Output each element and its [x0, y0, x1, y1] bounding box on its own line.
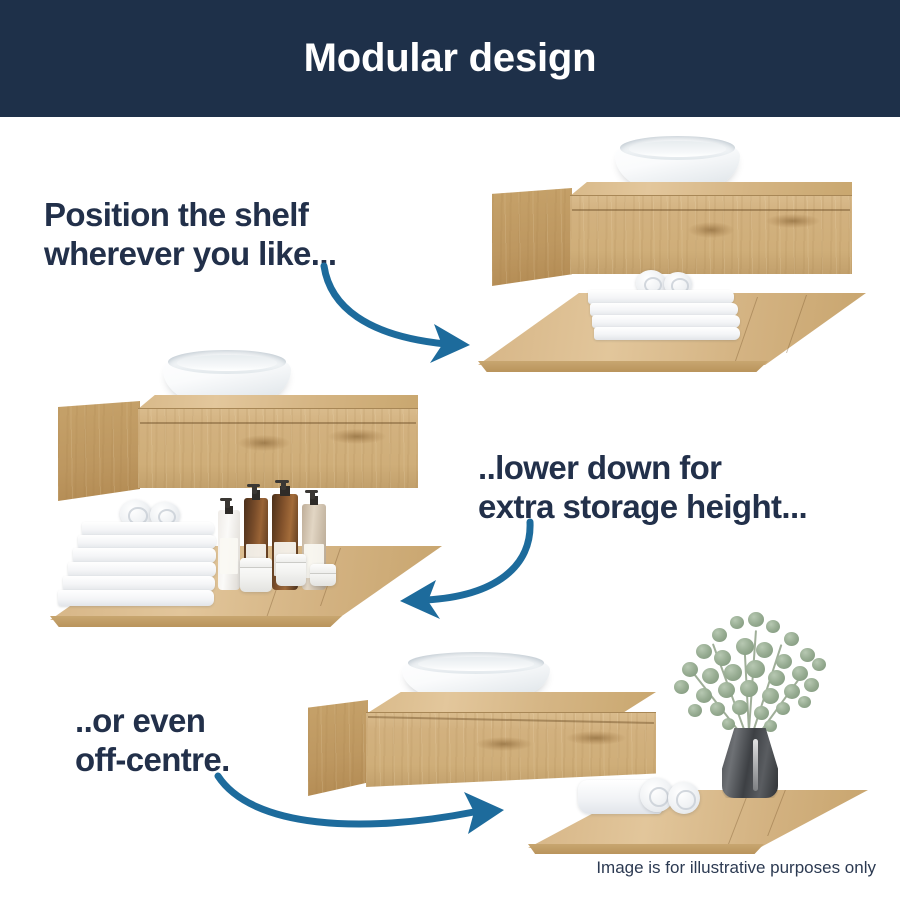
bottle-label: [220, 538, 238, 574]
plant-leaf: [812, 658, 826, 671]
plant-leaf: [776, 702, 790, 715]
vase-highlight: [753, 739, 758, 791]
plant-leaf: [746, 660, 765, 678]
plant-leaf: [712, 628, 727, 642]
callout-off-centre: ..or even off-centre.: [75, 702, 230, 780]
folded-towel: [594, 327, 740, 340]
jar-lid: [310, 564, 336, 574]
vanity-side-face: [58, 401, 140, 501]
folded-towel: [68, 562, 216, 577]
eucalyptus-arrangement: [652, 610, 852, 820]
plant-leaf: [798, 696, 811, 708]
eucalyptus-plant: [652, 610, 852, 740]
plant-leaf: [762, 688, 779, 704]
plant-leaf: [754, 706, 769, 720]
bottle-spout: [305, 490, 318, 493]
header-banner: Modular design: [0, 0, 900, 117]
callout-lower-down: ..lower down for extra storage height...: [478, 449, 807, 527]
shelf-front-edge: [478, 361, 768, 372]
plant-leaf: [740, 680, 758, 697]
scene-vanity-shelf-offcentre: [300, 600, 870, 860]
plant-leaf: [696, 644, 712, 659]
wood-knot: [766, 214, 820, 228]
vanity-top-face: [366, 692, 656, 714]
wood-knot: [328, 429, 386, 444]
scene-vanity-shelf-high: [470, 130, 880, 400]
vanity-top-face: [138, 395, 418, 409]
basin-inner: [418, 657, 533, 671]
scene-vanity-shelf-low: [50, 340, 450, 640]
plant-leaf: [766, 620, 780, 633]
shelf-front-edge: [528, 844, 764, 854]
callout-position-the-shelf: Position the shelf wherever you like...: [44, 196, 336, 274]
plant-leaf: [784, 684, 800, 699]
wood-knot: [476, 737, 532, 751]
plant-leaf: [804, 678, 819, 692]
plant-leaf: [702, 668, 719, 684]
vanity-front-face: [570, 195, 852, 274]
vanity-front-face: [138, 408, 418, 488]
plant-leaf: [748, 612, 764, 627]
bottle-spout: [247, 484, 260, 487]
basin-inner: [177, 355, 277, 371]
folded-towel-stack: [58, 500, 228, 610]
folded-towel: [58, 590, 214, 606]
plant-leaf: [768, 670, 785, 686]
plant-leaf: [674, 680, 689, 694]
plant-leaf: [756, 642, 773, 658]
shelf-front-edge: [50, 616, 342, 627]
plant-leaf: [736, 638, 754, 655]
drawer-gap-line: [140, 422, 416, 424]
plant-leaf: [718, 682, 735, 698]
plant-leaf: [696, 688, 712, 703]
folded-towel: [63, 576, 215, 591]
vanity-top-face: [570, 182, 852, 196]
plant-leaf: [730, 616, 744, 629]
storage-jar-low: [310, 564, 336, 586]
folded-towel: [588, 290, 734, 304]
jar-lid: [276, 554, 306, 563]
basin-inner: [629, 141, 727, 157]
vanity-side-face: [492, 188, 572, 286]
infographic-canvas: Modular design: [0, 0, 900, 900]
bottle-spout: [220, 498, 232, 501]
wood-grain: [58, 401, 140, 501]
plant-leaf: [784, 632, 799, 646]
toiletries-group: [218, 480, 348, 600]
folded-towel: [82, 522, 214, 536]
wood-grain: [492, 188, 572, 286]
storage-jar: [276, 554, 306, 586]
jar-lid: [240, 558, 272, 568]
drawer-gap-line: [572, 209, 850, 211]
plant-leaf: [714, 650, 731, 666]
vase-glass: [722, 728, 778, 798]
folded-towel-stack: [588, 270, 748, 342]
bottle-spout: [275, 480, 289, 483]
vanity-side-face: [308, 700, 368, 796]
storage-jar: [240, 558, 272, 592]
plant-leaf: [682, 662, 698, 677]
folded-towel: [73, 548, 216, 563]
footnote-illustrative-purposes: Image is for illustrative purposes only: [596, 858, 876, 878]
plant-leaf: [688, 704, 702, 717]
folded-towel: [78, 535, 216, 549]
wood-grain: [308, 700, 368, 796]
plant-leaf: [724, 664, 742, 681]
wood-knot: [238, 435, 290, 451]
plant-leaf: [732, 700, 748, 715]
page-title: Modular design: [304, 36, 597, 81]
plant-leaf: [710, 702, 725, 716]
wood-knot: [688, 222, 734, 238]
pump-bottle-clear: [218, 498, 240, 590]
wood-knot: [566, 731, 626, 745]
plant-leaf: [776, 654, 792, 669]
smoked-glass-vase: [722, 728, 778, 798]
